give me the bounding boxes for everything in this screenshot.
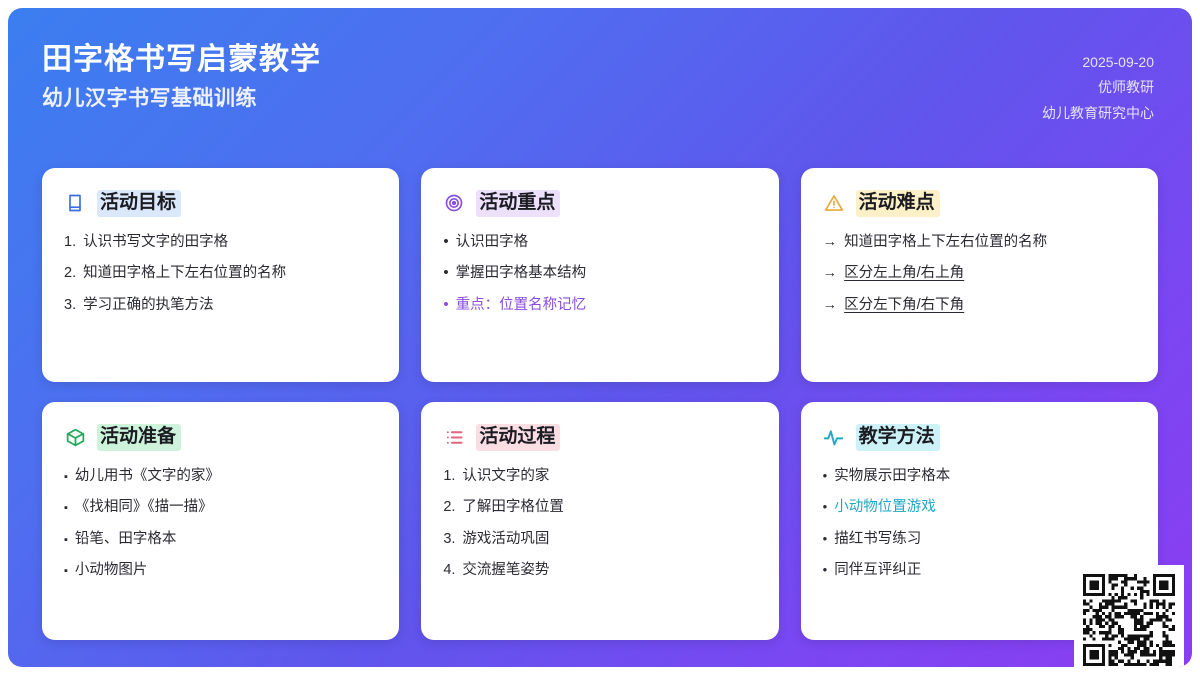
list-marker: • bbox=[823, 469, 828, 482]
list-marker: → bbox=[823, 233, 838, 253]
page-subtitle: 幼儿汉字书写基础训练 bbox=[42, 85, 321, 112]
list-item: 2.知道田字格上下左右位置的名称 bbox=[64, 264, 377, 284]
list-item-text: 认识田字格 bbox=[456, 233, 757, 253]
list-item-text: 《找相同》《描一描》 bbox=[75, 498, 377, 518]
card-preparation: 活动准备▪幼儿用书《文字的家》▪《找相同》《描一描》▪铅笔、田字格本▪小动物图片 bbox=[42, 402, 399, 640]
qr-code-container[interactable] bbox=[1074, 565, 1184, 667]
card-header: 活动过程 bbox=[443, 424, 756, 451]
list-item-text: 描红书写练习 bbox=[834, 530, 1136, 550]
list-item: •认识田字格 bbox=[443, 233, 756, 253]
card-item-list: 1.认识书写文字的田字格2.知道田字格上下左右位置的名称3.学习正确的执笔方法 bbox=[64, 233, 377, 316]
list-marker: • bbox=[443, 297, 448, 312]
card-objectives: 活动目标1.认识书写文字的田字格2.知道田字格上下左右位置的名称3.学习正确的执… bbox=[42, 168, 399, 382]
card-title: 活动重点 bbox=[476, 190, 560, 217]
list-icon bbox=[443, 426, 465, 448]
list-marker: 4. bbox=[443, 561, 455, 581]
list-item: ▪幼儿用书《文字的家》 bbox=[64, 467, 377, 487]
meta-date: 2025-09-20 bbox=[1082, 52, 1154, 72]
list-marker: ▪ bbox=[64, 470, 68, 484]
list-item: ▪《找相同》《描一描》 bbox=[64, 498, 377, 518]
list-marker: 2. bbox=[64, 264, 76, 284]
list-item-text: 铅笔、田字格本 bbox=[75, 530, 377, 550]
list-item-text: 小动物图片 bbox=[75, 561, 377, 581]
list-marker: → bbox=[823, 264, 838, 284]
card-title: 活动难点 bbox=[856, 190, 940, 217]
list-item: •重点：位置名称记忆 bbox=[443, 296, 756, 316]
list-item-text: 幼儿用书《文字的家》 bbox=[75, 467, 377, 487]
slide-header: 田字格书写启蒙教学 幼儿汉字书写基础训练 2025-09-20 优师教研 幼儿教… bbox=[8, 8, 1192, 158]
card-key-points: 活动重点•认识田字格•掌握田字格基本结构•重点：位置名称记忆 bbox=[421, 168, 778, 382]
page-title: 田字格书写启蒙教学 bbox=[42, 40, 321, 79]
meta-org: 优师教研 bbox=[1098, 77, 1154, 97]
list-item-text: 掌握田字格基本结构 bbox=[456, 264, 757, 284]
qr-code bbox=[1083, 574, 1175, 666]
card-header: 活动重点 bbox=[443, 190, 756, 217]
list-item-text: 小动物位置游戏 bbox=[834, 498, 1136, 518]
list-item: 4.交流握笔姿势 bbox=[443, 561, 756, 581]
card-item-list: •认识田字格•掌握田字格基本结构•重点：位置名称记忆 bbox=[443, 233, 756, 316]
activity-pulse-icon bbox=[823, 426, 845, 448]
card-item-list: →知道田字格上下左右位置的名称→区分左上角/右上角→区分左下角/右下角 bbox=[823, 233, 1136, 316]
list-marker: 3. bbox=[64, 296, 76, 316]
list-item-text: 认识文字的家 bbox=[462, 467, 756, 487]
list-item: •描红书写练习 bbox=[823, 530, 1136, 550]
card-title: 活动目标 bbox=[97, 190, 181, 217]
list-item-text: 交流握笔姿势 bbox=[462, 561, 756, 581]
list-item: ▪铅笔、田字格本 bbox=[64, 530, 377, 550]
card-item-list: •实物展示田字格本•小动物位置游戏•描红书写练习•同伴互评纠正 bbox=[823, 467, 1136, 581]
list-marker: • bbox=[823, 500, 828, 513]
list-item-text: 学习正确的执笔方法 bbox=[83, 296, 377, 316]
card-item-list: 1.认识文字的家2.了解田字格位置3.游戏活动巩固4.交流握笔姿势 bbox=[443, 467, 756, 581]
slide-canvas: 田字格书写启蒙教学 幼儿汉字书写基础训练 2025-09-20 优师教研 幼儿教… bbox=[8, 8, 1192, 667]
list-item: 2.了解田字格位置 bbox=[443, 498, 756, 518]
list-item-text: 知道田字格上下左右位置的名称 bbox=[844, 233, 1136, 253]
list-item-text: 区分左下角/右下角 bbox=[844, 296, 1136, 316]
list-marker: ▪ bbox=[64, 533, 68, 547]
list-item: 3.学习正确的执笔方法 bbox=[64, 296, 377, 316]
card-difficulties: 活动难点→知道田字格上下左右位置的名称→区分左上角/右上角→区分左下角/右下角 bbox=[801, 168, 1158, 382]
list-item: →区分左下角/右下角 bbox=[823, 296, 1136, 316]
list-item-text: 实物展示田字格本 bbox=[834, 467, 1136, 487]
title-block: 田字格书写启蒙教学 幼儿汉字书写基础训练 bbox=[42, 40, 321, 112]
card-item-list: ▪幼儿用书《文字的家》▪《找相同》《描一描》▪铅笔、田字格本▪小动物图片 bbox=[64, 467, 377, 581]
list-item: •小动物位置游戏 bbox=[823, 498, 1136, 518]
list-item-text: 重点：位置名称记忆 bbox=[456, 296, 757, 316]
book-icon bbox=[64, 192, 86, 214]
card-process: 活动过程1.认识文字的家2.了解田字格位置3.游戏活动巩固4.交流握笔姿势 bbox=[421, 402, 778, 640]
card-title: 活动过程 bbox=[476, 424, 560, 451]
header-meta: 2025-09-20 优师教研 幼儿教育研究中心 bbox=[1042, 40, 1154, 123]
list-item-text: 游戏活动巩固 bbox=[462, 530, 756, 550]
list-item-text: 了解田字格位置 bbox=[462, 498, 756, 518]
list-item: 1.认识文字的家 bbox=[443, 467, 756, 487]
list-item: →区分左上角/右上角 bbox=[823, 264, 1136, 284]
list-item-text: 认识书写文字的田字格 bbox=[83, 233, 377, 253]
list-item: •实物展示田字格本 bbox=[823, 467, 1136, 487]
card-header: 活动目标 bbox=[64, 190, 377, 217]
list-marker: • bbox=[823, 563, 828, 576]
list-item: ▪小动物图片 bbox=[64, 561, 377, 581]
card-title: 活动准备 bbox=[97, 424, 181, 451]
list-marker: 3. bbox=[443, 530, 455, 550]
warning-icon bbox=[823, 192, 845, 214]
card-grid: 活动目标1.认识书写文字的田字格2.知道田字格上下左右位置的名称3.学习正确的执… bbox=[42, 168, 1158, 640]
list-marker: • bbox=[443, 234, 448, 249]
card-header: 活动难点 bbox=[823, 190, 1136, 217]
list-item: →知道田字格上下左右位置的名称 bbox=[823, 233, 1136, 253]
list-marker: ▪ bbox=[64, 501, 68, 515]
list-marker: 1. bbox=[443, 467, 455, 487]
list-marker: • bbox=[443, 265, 448, 280]
card-header: 教学方法 bbox=[823, 424, 1136, 451]
meta-dept: 幼儿教育研究中心 bbox=[1042, 103, 1154, 123]
list-item-text: 区分左上角/右上角 bbox=[844, 264, 1136, 284]
package-icon bbox=[64, 426, 86, 448]
card-header: 活动准备 bbox=[64, 424, 377, 451]
card-title: 教学方法 bbox=[856, 424, 940, 451]
target-icon bbox=[443, 192, 465, 214]
list-item: •掌握田字格基本结构 bbox=[443, 264, 756, 284]
list-marker: 2. bbox=[443, 498, 455, 518]
list-marker: • bbox=[823, 532, 828, 545]
list-marker: → bbox=[823, 296, 838, 316]
list-item: 1.认识书写文字的田字格 bbox=[64, 233, 377, 253]
list-marker: ▪ bbox=[64, 564, 68, 578]
list-item-text: 知道田字格上下左右位置的名称 bbox=[83, 264, 377, 284]
list-item: 3.游戏活动巩固 bbox=[443, 530, 756, 550]
list-marker: 1. bbox=[64, 233, 76, 253]
